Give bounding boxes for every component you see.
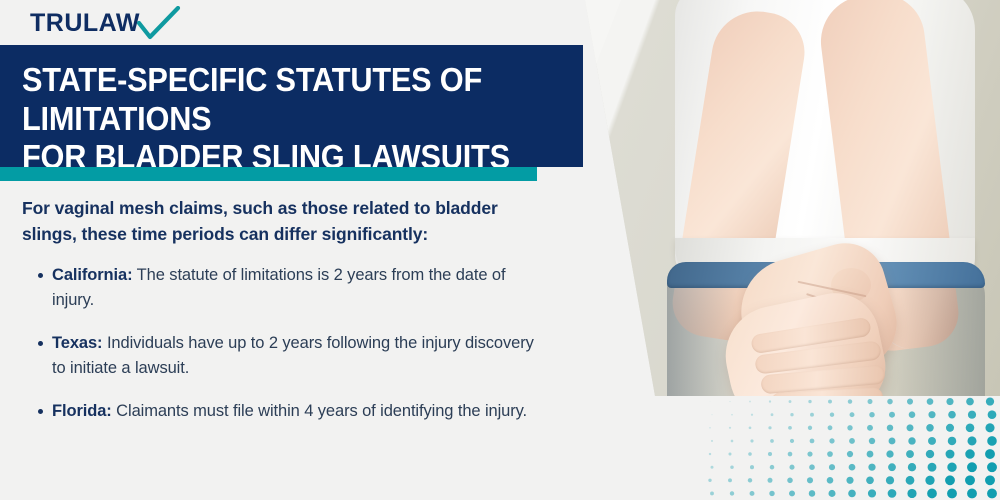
- halftone-dot: [730, 465, 733, 468]
- hero-photo: [575, 0, 1000, 396]
- halftone-dot: [750, 465, 754, 469]
- halftone-dot: [948, 411, 956, 419]
- halftone-dot: [985, 423, 994, 432]
- list-item: Florida: Claimants must file within 4 ye…: [22, 399, 542, 424]
- checkmark-icon: [137, 6, 181, 40]
- infographic-root: TRULAW STATE-SPECIFIC STATUTES OF LIMITA…: [0, 0, 1000, 500]
- halftone-dot: [848, 490, 856, 498]
- halftone-dot: [768, 452, 772, 456]
- halftone-dot: [966, 424, 975, 433]
- halftone-dot: [988, 410, 997, 419]
- logo-wordmark: TRULAW: [30, 11, 140, 36]
- halftone-dot-gradient: [700, 395, 1000, 500]
- halftone-dot: [770, 465, 775, 470]
- halftone-dot: [768, 478, 773, 483]
- halftone-dot: [986, 397, 994, 405]
- halftone-dot: [769, 491, 774, 496]
- halftone-dot: [731, 440, 734, 443]
- halftone-dot: [946, 450, 955, 459]
- halftone-dot: [926, 450, 934, 458]
- halftone-dot: [926, 424, 934, 432]
- halftone-dot: [867, 451, 874, 458]
- halftone-dot: [809, 490, 816, 497]
- halftone-dot: [768, 426, 771, 429]
- halftone-dot: [946, 398, 953, 405]
- halftone-dot: [946, 424, 954, 432]
- halftone-dot: [828, 490, 835, 497]
- halftone-dot: [886, 450, 893, 457]
- state-label: Florida:: [52, 402, 112, 420]
- halftone-dot: [829, 464, 835, 470]
- halftone-dot: [748, 478, 752, 482]
- halftone-dot: [708, 479, 711, 482]
- halftone-dot: [771, 413, 774, 416]
- halftone-dot: [710, 492, 714, 496]
- halftone-dot: [728, 478, 732, 482]
- halftone-dot: [728, 453, 731, 456]
- halftone-dot: [908, 463, 916, 471]
- halftone-dot: [888, 463, 896, 471]
- halftone-dot: [967, 488, 977, 498]
- halftone-dot: [906, 476, 915, 485]
- halftone-dot: [846, 477, 853, 484]
- state-label: Texas:: [52, 334, 102, 352]
- halftone-dot: [948, 437, 957, 446]
- halftone-dot: [925, 476, 934, 485]
- halftone-dot: [945, 475, 955, 485]
- halftone-dot: [887, 425, 893, 431]
- halftone-dot: [847, 425, 852, 430]
- halftone-dot: [869, 412, 874, 417]
- halftone-dot: [967, 462, 977, 472]
- halftone-dot: [985, 475, 995, 485]
- halftone-dot: [790, 413, 793, 416]
- halftone-dot: [928, 411, 935, 418]
- halftone-dot: [827, 451, 833, 457]
- halftone-dot: [867, 399, 872, 404]
- halftone-dot: [888, 489, 897, 498]
- halftone-dot: [928, 463, 937, 472]
- halftone-dot: [808, 426, 812, 430]
- halftone-dot: [886, 476, 894, 484]
- halftone-dot: [868, 464, 875, 471]
- halftone-dot: [927, 398, 934, 405]
- halftone-dot: [849, 438, 855, 444]
- halftone-dot: [711, 414, 712, 415]
- halftone-dot: [985, 449, 995, 459]
- halftone-dot: [769, 400, 771, 402]
- halftone-dot: [731, 414, 733, 416]
- halftone-dot: [868, 489, 876, 497]
- halftone-dot: [787, 478, 793, 484]
- halftone-dot: [748, 452, 752, 456]
- halftone-dot: [867, 425, 873, 431]
- teal-accent-bar: [0, 167, 537, 181]
- halftone-dot: [729, 401, 730, 402]
- list-item: Texas: Individuals have up to 2 years fo…: [22, 331, 542, 381]
- state-detail: Individuals have up to 2 years following…: [52, 334, 534, 377]
- state-label: California:: [52, 266, 133, 284]
- halftone-dot: [810, 439, 815, 444]
- halftone-dot: [770, 439, 774, 443]
- halftone-dot: [907, 399, 913, 405]
- list-item: California: The statute of limitations i…: [22, 263, 542, 313]
- halftone-dot: [847, 451, 853, 457]
- halftone-dot: [749, 401, 751, 403]
- halftone-dot: [909, 411, 916, 418]
- halftone-dot: [987, 462, 997, 472]
- halftone-dot: [711, 440, 713, 442]
- halftone-dot: [830, 413, 834, 417]
- state-detail: Claimants must file within 4 years of id…: [112, 402, 527, 420]
- halftone-dot: [967, 436, 976, 445]
- headline-line-1: STATE-SPECIFIC STATUTES OF LIMITATIONS: [22, 61, 482, 137]
- halftone-dot: [906, 450, 914, 458]
- halftone-dot: [809, 464, 815, 470]
- halftone-dot: [889, 437, 896, 444]
- halftone-dot: [750, 491, 755, 496]
- halftone-dot: [829, 438, 834, 443]
- halftone-dot: [789, 465, 794, 470]
- halftone-dot: [908, 437, 915, 444]
- halftone-dot: [850, 412, 855, 417]
- state-limitations-list: California: The statute of limitations i…: [22, 263, 542, 424]
- halftone-dot: [887, 399, 893, 405]
- halftone-dot: [709, 427, 711, 429]
- halftone-dot: [965, 449, 975, 459]
- content-area: For vaginal mesh claims, such as those r…: [22, 196, 542, 424]
- halftone-dot: [947, 462, 956, 471]
- halftone-dot: [710, 401, 711, 402]
- headline-banner: STATE-SPECIFIC STATUTES OF LIMITATIONS F…: [0, 45, 583, 167]
- halftone-dot: [789, 400, 792, 403]
- halftone-dot: [808, 400, 811, 403]
- halftone-dot: [928, 437, 936, 445]
- halftone-dot: [749, 426, 752, 429]
- halftone-dot: [947, 488, 957, 498]
- halftone-dot: [730, 491, 734, 495]
- halftone-dot: [848, 399, 852, 403]
- halftone-dot: [750, 439, 753, 442]
- halftone-dot: [790, 439, 794, 443]
- halftone-dot: [965, 475, 975, 485]
- halftone-dot: [711, 466, 714, 469]
- trulaw-logo[interactable]: TRULAW: [30, 8, 181, 38]
- halftone-dot: [828, 400, 832, 404]
- intro-paragraph: For vaginal mesh claims, such as those r…: [22, 196, 542, 247]
- halftone-dot: [907, 489, 916, 498]
- halftone-dot: [807, 477, 813, 483]
- halftone-dot: [987, 488, 997, 498]
- halftone-dot: [789, 490, 795, 496]
- halftone-dot: [810, 413, 814, 417]
- halftone-dot: [889, 412, 895, 418]
- halftone-dot: [828, 425, 833, 430]
- halftone-dot: [827, 477, 834, 484]
- halftone-dot: [849, 464, 856, 471]
- halftone-dot: [709, 453, 711, 455]
- halftone-dot: [807, 451, 812, 456]
- halftone-dot: [966, 398, 974, 406]
- person-figure: [575, 0, 1000, 396]
- halftone-dot: [927, 489, 937, 499]
- halftone-dot: [987, 436, 997, 446]
- halftone-dot: [788, 426, 792, 430]
- page-title: STATE-SPECIFIC STATUTES OF LIMITATIONS F…: [22, 61, 518, 177]
- halftone-dot: [729, 427, 731, 429]
- halftone-dot: [907, 424, 914, 431]
- halftone-dot: [788, 452, 793, 457]
- halftone-dot: [968, 411, 976, 419]
- halftone-dot: [866, 476, 874, 484]
- halftone-dot: [869, 438, 875, 444]
- halftone-dot: [751, 414, 753, 416]
